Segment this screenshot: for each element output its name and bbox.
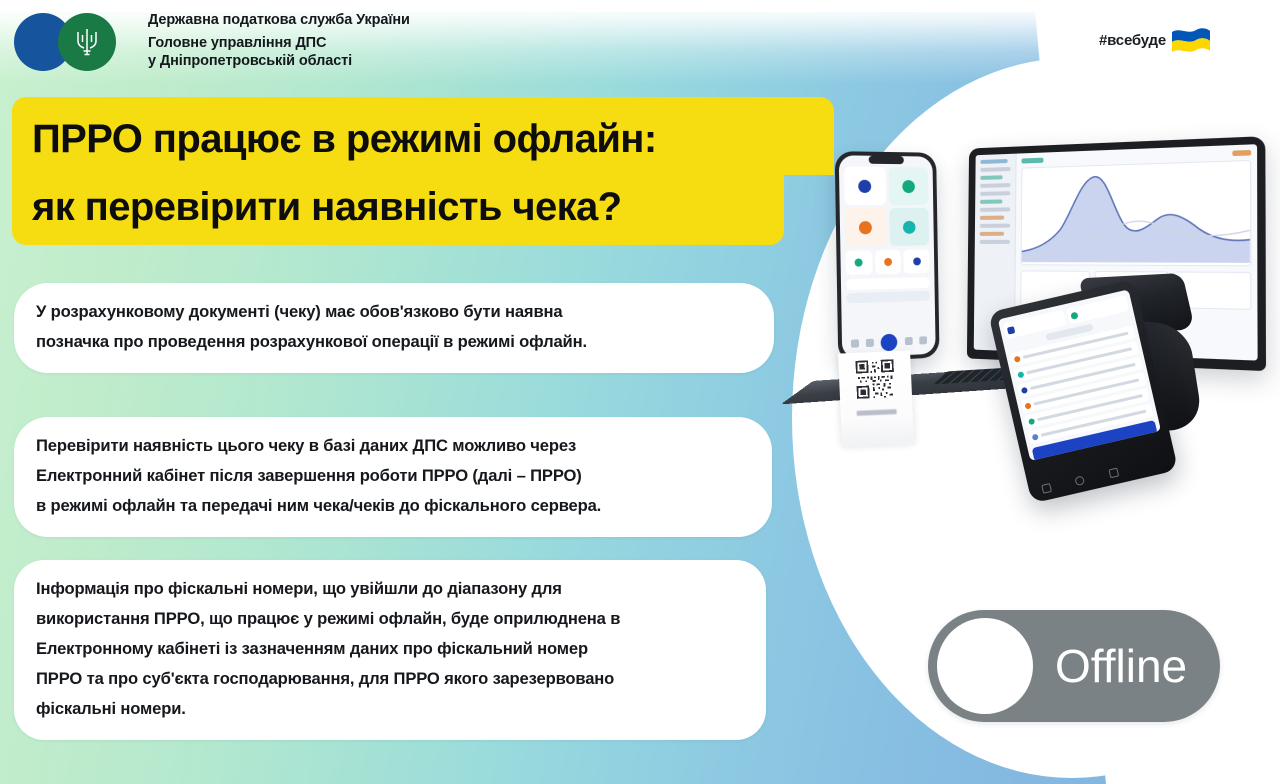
info-card-2-line-2: Електронний кабінет після завершення роб…	[36, 461, 746, 491]
ukraine-flag-icon	[1170, 26, 1212, 54]
qr-code-icon	[855, 359, 895, 399]
title-line-2: як перевірити наявність чека?	[32, 187, 622, 227]
org-name-line-1: Державна податкова служба України	[148, 12, 410, 29]
phone-tile	[889, 208, 930, 246]
info-card-1-line-1: У розрахунковому документі (чеку) має об…	[36, 297, 748, 327]
printed-receipt	[838, 350, 914, 443]
home-icon	[1075, 475, 1086, 486]
toggle-knob[interactable]	[937, 618, 1033, 714]
info-card-3-line-2: використання ПРРО, що працює у режимі оф…	[36, 604, 740, 634]
info-card-1: У розрахунковому документі (чеку) має об…	[14, 283, 774, 373]
org-name-line-3: у Дніпропетровській області	[148, 52, 410, 70]
title-line-1: ПРРО працює в режимі офлайн:	[32, 119, 657, 159]
phone-app-ui	[839, 155, 936, 358]
phone-shortcut-row	[845, 249, 929, 275]
org-title-block: Державна податкова служба України Головн…	[148, 12, 410, 70]
pos-android-nav	[1028, 461, 1133, 500]
laptop-area-chart	[1021, 160, 1252, 267]
logo-green-circle-icon	[58, 13, 116, 71]
info-card-2-line-3: в режимі офлайн та передачі ним чека/чек…	[36, 491, 746, 521]
offline-toggle-switch[interactable]: Offline	[928, 610, 1220, 722]
title-banner: ПРРО працює в режимі офлайн: як перевіри…	[12, 97, 834, 245]
info-card-1-line-2: позначка про проведення розрахункової оп…	[36, 327, 748, 357]
infographic-stage: Державна податкова служба України Головн…	[0, 0, 1280, 784]
info-card-3-line-1: Інформація про фіскальні номери, що увій…	[36, 574, 740, 604]
phone-tile	[845, 208, 887, 247]
phone-search-field	[846, 291, 930, 304]
back-icon	[1108, 467, 1119, 478]
phone-tile	[888, 167, 929, 205]
toggle-label: Offline	[1055, 639, 1187, 693]
trident-icon	[74, 26, 100, 58]
phone-tile-grid	[844, 166, 929, 246]
logo	[14, 13, 144, 71]
info-card-2: Перевірити наявність цього чеку в базі д…	[14, 417, 772, 537]
devices-illustration	[800, 120, 1270, 560]
pos-terminal	[988, 269, 1224, 508]
phone-fab-icon	[881, 333, 898, 351]
info-card-3-line-4: ПРРО та про суб'єкта господарювання, для…	[36, 664, 740, 694]
hashtag-block: #всебуде	[1099, 26, 1212, 54]
info-card-3-line-3: Електронному кабінеті із зазначенням дан…	[36, 634, 740, 664]
phone-notch	[869, 156, 904, 164]
org-name-line-2: Головне управління ДПС	[148, 34, 410, 52]
phone-info-bar	[846, 277, 930, 290]
info-card-3-line-5: фіскальні номери.	[36, 694, 740, 724]
header: Державна податкова служба України Головн…	[0, 0, 1280, 88]
info-card-3: Інформація про фіскальні номери, що увій…	[14, 560, 766, 740]
menu-icon	[1041, 483, 1052, 494]
receipt-fiscal-line	[857, 409, 897, 416]
phone-tile	[844, 166, 886, 205]
pos-screen-ui	[998, 289, 1161, 460]
hashtag-label: #всебуде	[1099, 32, 1166, 49]
smartphone	[835, 151, 940, 363]
info-card-2-line-1: Перевірити наявність цього чеку в базі д…	[36, 431, 746, 461]
